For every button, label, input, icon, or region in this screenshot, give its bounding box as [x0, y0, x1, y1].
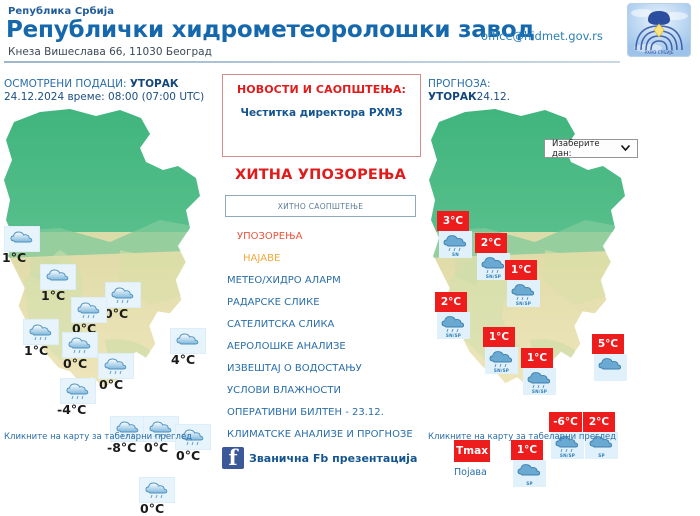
- cloudy-icon: SP: [513, 460, 546, 487]
- observed-temperature-label: 4°C: [171, 352, 195, 367]
- menu-item-7[interactable]: УСЛОВИ ВЛАЖНОСТИ: [227, 380, 427, 402]
- forecast-temperature-badge: 1°C: [521, 348, 553, 368]
- menu-item-5[interactable]: АЕРОЛОШКЕ АНАЛИЗЕ: [227, 336, 427, 358]
- forecast-temperature-badge: 2°C: [475, 233, 507, 253]
- urgent-warnings-title: ХИТНА УПОЗОРЕЊА: [222, 167, 419, 183]
- rhmz-logo-icon[interactable]: РХМЗ СРБИЈЕ: [628, 4, 690, 56]
- observed-label: ОСМОТРЕНИ ПОДАЦИ:: [4, 78, 126, 90]
- observed-map[interactable]: 1°C1°C0°C0°C1°C0°C4°C0°C-4°C-8°C0°C0°C0°…: [0, 100, 215, 430]
- cloudy-snow-icon: SN/SP: [485, 347, 518, 374]
- menu-item-1[interactable]: НАЈАВЕ: [227, 248, 427, 270]
- cloudy-rain-icon: [60, 378, 96, 404]
- header-email-link[interactable]: office@hidmet.gov.rs: [481, 29, 603, 43]
- forecast-map-caption: Кликните на карту за табеларни преглед: [428, 432, 616, 442]
- cloudy-snow-icon: SN: [439, 231, 472, 258]
- cloudy-icon: [40, 264, 76, 290]
- news-box: НОВОСТИ И САОПШТЕЊА: Честитка директора …: [222, 74, 421, 157]
- cloudy-snow-icon: SN/SP: [523, 368, 556, 395]
- cloudy-snow-icon: SN/SP: [437, 312, 470, 339]
- cloudy-rain-icon: [98, 353, 134, 379]
- cloudy-rain-icon: [62, 332, 98, 358]
- observed-temperature-label: 0°C: [99, 377, 123, 392]
- news-item-link[interactable]: Честитка директора РХМЗ: [223, 107, 420, 119]
- menu-item-0[interactable]: УПОЗОРЕЊА: [227, 226, 427, 248]
- cloudy-snow-icon: SN/SP: [507, 280, 540, 307]
- observed-temperature-label: 1°C: [2, 250, 26, 265]
- observed-day: УТОРАК: [130, 78, 179, 90]
- header-subtitle: Република Србија: [8, 6, 114, 17]
- forecast-temperature-badge: 3°C: [437, 211, 469, 231]
- header-address: Кнеза Вишеслава 66, 11030 Београд: [8, 46, 212, 58]
- forecast-temperature-badge: 2°C: [583, 412, 615, 432]
- observed-temperature-label: 0°C: [176, 448, 200, 463]
- news-title: НОВОСТИ И САОПШТЕЊА:: [223, 83, 420, 96]
- day-select[interactable]: Изаберите дан:: [544, 139, 638, 158]
- observed-temperature-label: 1°C: [41, 288, 65, 303]
- observed-temperature-label: 1°C: [24, 343, 48, 358]
- observed-temperature-label: 0°C: [140, 501, 164, 516]
- forecast-temperature-badge: 5°C: [592, 334, 624, 354]
- day-select-label: Изаберите дан:: [545, 139, 621, 159]
- hidmet-homepage: Република Србија Републички хидрометеоро…: [0, 0, 700, 476]
- menu-item-3[interactable]: РАДАРСКЕ СЛИКЕ: [227, 292, 427, 314]
- forecast-label: ПРОГНОЗА:: [428, 78, 491, 90]
- menu-item-6[interactable]: ИЗВЕШТАЈ О ВОДОСТАЊУ: [227, 358, 427, 380]
- chevron-down-icon: [621, 144, 637, 153]
- site-header: Република Србија Републички хидрометеоро…: [0, 0, 700, 62]
- legend-tmax-badge: Tmax: [454, 440, 490, 462]
- forecast-temperature-badge: 1°C: [483, 327, 515, 347]
- menu-item-9[interactable]: КЛИМАТСКЕ АНАЛИЗЕ И ПРОГНОЗЕ: [227, 424, 427, 446]
- observed-temperature-label: 0°C: [63, 356, 87, 371]
- forecast-temperature-badge: 1°C: [505, 260, 537, 280]
- observed-temperature-label: -8°C: [107, 440, 136, 455]
- facebook-label: Званична Fb презентација: [249, 452, 417, 465]
- svg-text:РХМЗ СРБИЈЕ: РХМЗ СРБИЈЕ: [644, 50, 673, 56]
- menu-item-2[interactable]: МЕТЕО/ХИДРО АЛАРМ: [227, 270, 427, 292]
- cloudy-rain-icon: [71, 297, 107, 323]
- forecast-temperature-badge: -6°C: [549, 412, 582, 432]
- cloudy-icon: [4, 226, 40, 252]
- legend-pojava-label: Појава: [454, 467, 487, 478]
- forecast-temperature-badge: 2°C: [435, 292, 467, 312]
- observed-temperature-label: 0°C: [104, 306, 128, 321]
- main-menu: УПОЗОРЕЊАНАЈАВЕМЕТЕО/ХИДРО АЛАРМРАДАРСКЕ…: [227, 226, 427, 446]
- menu-item-4[interactable]: САТЕЛИТСКА СЛИКА: [227, 314, 427, 336]
- page-title: Републички хидрометеоролошки завод: [6, 17, 535, 43]
- cloudy-icon: [594, 354, 627, 381]
- forecast-temperature-badge: 1°C: [511, 440, 543, 460]
- cloudy-rain-icon: [139, 477, 175, 503]
- observed-temperature-label: 0°C: [144, 440, 168, 455]
- cloudy-rain-icon: [105, 282, 141, 308]
- facebook-icon: f: [222, 447, 244, 469]
- menu-item-8[interactable]: ОПЕРАТИВНИ БИЛТЕН - 23.12.: [227, 402, 427, 424]
- facebook-link[interactable]: f Званична Fb презентација: [222, 447, 417, 469]
- observed-map-caption: Кликните на карту за табеларни преглед: [4, 432, 192, 442]
- cloudy-rain-icon: [23, 319, 59, 345]
- observed-temperature-label: -4°C: [57, 402, 86, 417]
- cloudy-icon: [170, 328, 206, 354]
- urgent-announcement-button[interactable]: ХИТНО САОПШТЕЊЕ: [225, 195, 416, 217]
- header-divider: [4, 61, 620, 63]
